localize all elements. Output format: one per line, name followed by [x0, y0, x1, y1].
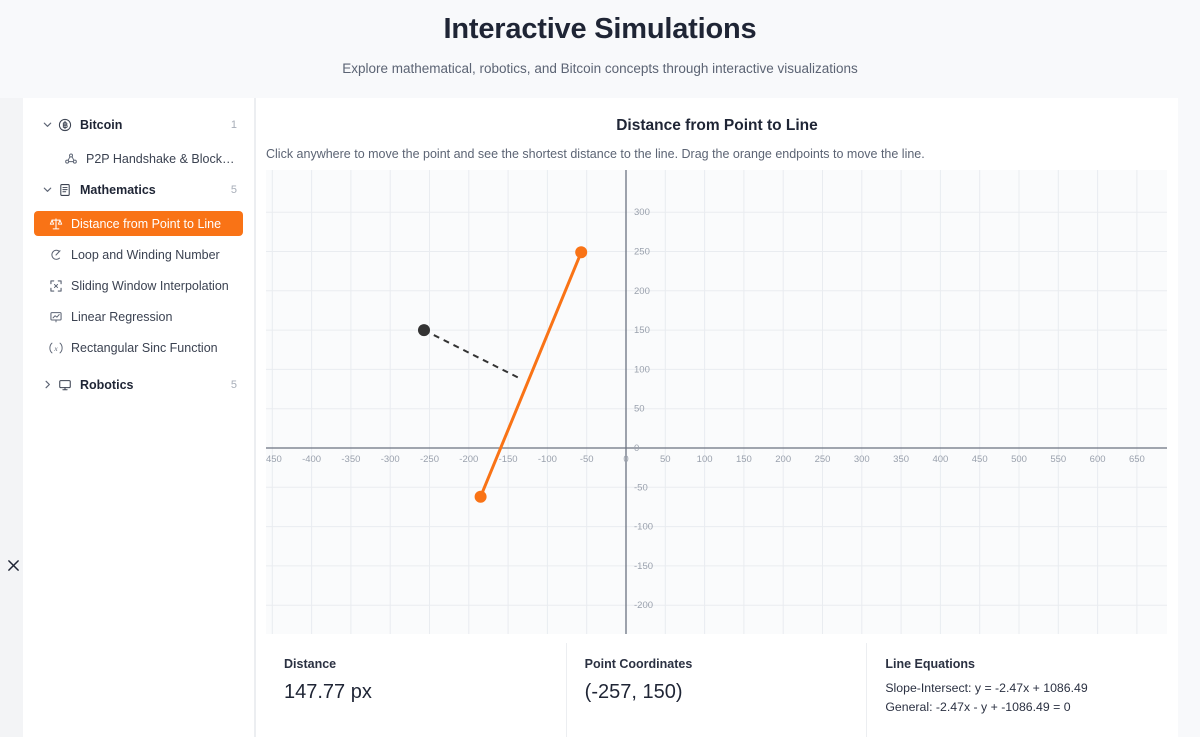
sidebar-group-count: 5 — [223, 379, 237, 391]
svg-text:250: 250 — [815, 454, 831, 465]
document-list-icon — [55, 183, 75, 197]
monitor-icon — [55, 378, 75, 392]
sidebar-group-count: 1 — [223, 119, 237, 131]
stat-label: Distance — [284, 657, 548, 671]
page-title: Interactive Simulations — [444, 13, 757, 46]
stat-card-point-coordinates: Point Coordinates (-257, 150) — [566, 643, 867, 737]
svg-text:200: 200 — [775, 454, 791, 465]
sidebar-item-sliding-window-interpolation[interactable]: Sliding Window Interpolation — [34, 273, 243, 298]
svg-text:50: 50 — [660, 454, 671, 465]
sidebar-group-robotics[interactable]: Robotics 5 — [34, 372, 243, 397]
svg-text:150: 150 — [736, 454, 752, 465]
page-header: Interactive Simulations Explore mathemat… — [0, 0, 1200, 98]
svg-text:-400: -400 — [302, 454, 321, 465]
sidebar-group-mathematics[interactable]: Mathematics 5 — [34, 177, 243, 202]
chart-hint: Click anywhere to move the point and see… — [266, 147, 1178, 161]
sidebar-item-distance-from-point-to-line[interactable]: Distance from Point to Line — [34, 211, 243, 236]
sidebar-item-label: Sliding Window Interpolation — [71, 279, 229, 293]
svg-text:-150: -150 — [634, 561, 653, 572]
sidebar-item-p2p-handshake[interactable]: P2P Handshake & Block Propa... — [34, 146, 243, 171]
svg-text:-300: -300 — [381, 454, 400, 465]
svg-text:-200: -200 — [459, 454, 478, 465]
svg-text:0: 0 — [623, 454, 628, 465]
svg-text:-50: -50 — [580, 454, 594, 465]
sidebar-group-label: Mathematics — [80, 183, 156, 197]
plot-svg[interactable]: -450-400-350-300-250-200-150-100-5005010… — [266, 170, 1167, 634]
sidebar-item-label: Distance from Point to Line — [71, 217, 221, 231]
sidebar-item-label: P2P Handshake & Block Propa... — [86, 152, 237, 166]
stat-label: Point Coordinates — [585, 657, 849, 671]
sidebar-item-linear-regression[interactable]: Linear Regression — [34, 304, 243, 329]
sidebar-item-label: Loop and Winding Number — [71, 248, 220, 262]
equation-general: General: -2.47x - y + -1086.49 = 0 — [885, 700, 1149, 714]
plot-canvas[interactable]: -450-400-350-300-250-200-150-100-5005010… — [266, 170, 1167, 634]
svg-text:250: 250 — [634, 247, 650, 258]
sidebar-item-rectangular-sinc-function[interactable]: x Rectangular Sinc Function — [34, 335, 243, 360]
sidebar: Bitcoin 1 P2P Handshake & Block Propa... — [23, 98, 255, 737]
sidebar-item-loop-and-winding-number[interactable]: Loop and Winding Number — [34, 242, 243, 267]
stat-card-distance: Distance 147.77 px — [266, 643, 566, 737]
svg-text:x: x — [53, 343, 58, 352]
left-rail — [0, 98, 23, 737]
svg-text:-100: -100 — [634, 522, 653, 533]
svg-text:200: 200 — [634, 286, 650, 297]
svg-text:-200: -200 — [634, 600, 653, 611]
svg-text:-50: -50 — [634, 482, 648, 493]
bitcoin-icon — [55, 118, 75, 132]
svg-text:-150: -150 — [499, 454, 518, 465]
function-of-x-icon: x — [46, 341, 66, 355]
sidebar-item-label: Rectangular Sinc Function — [71, 341, 218, 355]
plot-background — [266, 170, 1167, 634]
close-icon[interactable] — [4, 556, 22, 574]
sidebar-group-label: Robotics — [80, 378, 133, 392]
svg-text:-450: -450 — [266, 454, 282, 465]
svg-text:500: 500 — [1011, 454, 1027, 465]
network-nodes-icon — [61, 152, 81, 166]
chart-title: Distance from Point to Line — [256, 117, 1178, 135]
sidebar-group-count: 5 — [223, 184, 237, 196]
stat-value: 147.77 px — [284, 681, 548, 704]
balance-scale-icon — [46, 217, 66, 231]
stat-label: Line Equations — [885, 657, 1149, 671]
svg-text:400: 400 — [932, 454, 948, 465]
svg-text:150: 150 — [634, 325, 650, 336]
svg-text:-350: -350 — [341, 454, 360, 465]
svg-text:450: 450 — [972, 454, 988, 465]
svg-text:300: 300 — [854, 454, 870, 465]
svg-text:600: 600 — [1090, 454, 1106, 465]
equation-slope-intersect: Slope-Intersect: y = -2.47x + 1086.49 — [885, 681, 1149, 695]
chart-board-icon — [46, 310, 66, 324]
stat-cards: Distance 147.77 px Point Coordinates (-2… — [266, 643, 1167, 737]
sidebar-group-label: Bitcoin — [80, 118, 122, 132]
svg-text:50: 50 — [634, 404, 645, 415]
svg-text:300: 300 — [634, 207, 650, 218]
svg-text:-250: -250 — [420, 454, 439, 465]
svg-text:650: 650 — [1129, 454, 1145, 465]
sidebar-group-bitcoin[interactable]: Bitcoin 1 — [34, 112, 243, 137]
stat-card-line-equations: Line Equations Slope-Intersect: y = -2.4… — [866, 643, 1167, 737]
svg-text:550: 550 — [1050, 454, 1066, 465]
app-root: Interactive Simulations Explore mathemat… — [0, 0, 1200, 737]
stat-value: (-257, 150) — [585, 681, 849, 704]
expand-corners-icon — [46, 279, 66, 293]
chevron-down-icon — [40, 184, 55, 195]
chevron-down-icon — [40, 119, 55, 130]
page-subtitle: Explore mathematical, robotics, and Bitc… — [342, 61, 858, 76]
svg-text:-100: -100 — [538, 454, 557, 465]
sidebar-item-label: Linear Regression — [71, 310, 172, 324]
svg-text:0: 0 — [634, 443, 639, 454]
chevron-right-icon — [40, 379, 55, 390]
svg-text:100: 100 — [634, 364, 650, 375]
svg-text:350: 350 — [893, 454, 909, 465]
svg-text:100: 100 — [697, 454, 713, 465]
loop-icon — [46, 248, 66, 262]
main-content: Distance from Point to Line Click anywhe… — [255, 98, 1178, 737]
